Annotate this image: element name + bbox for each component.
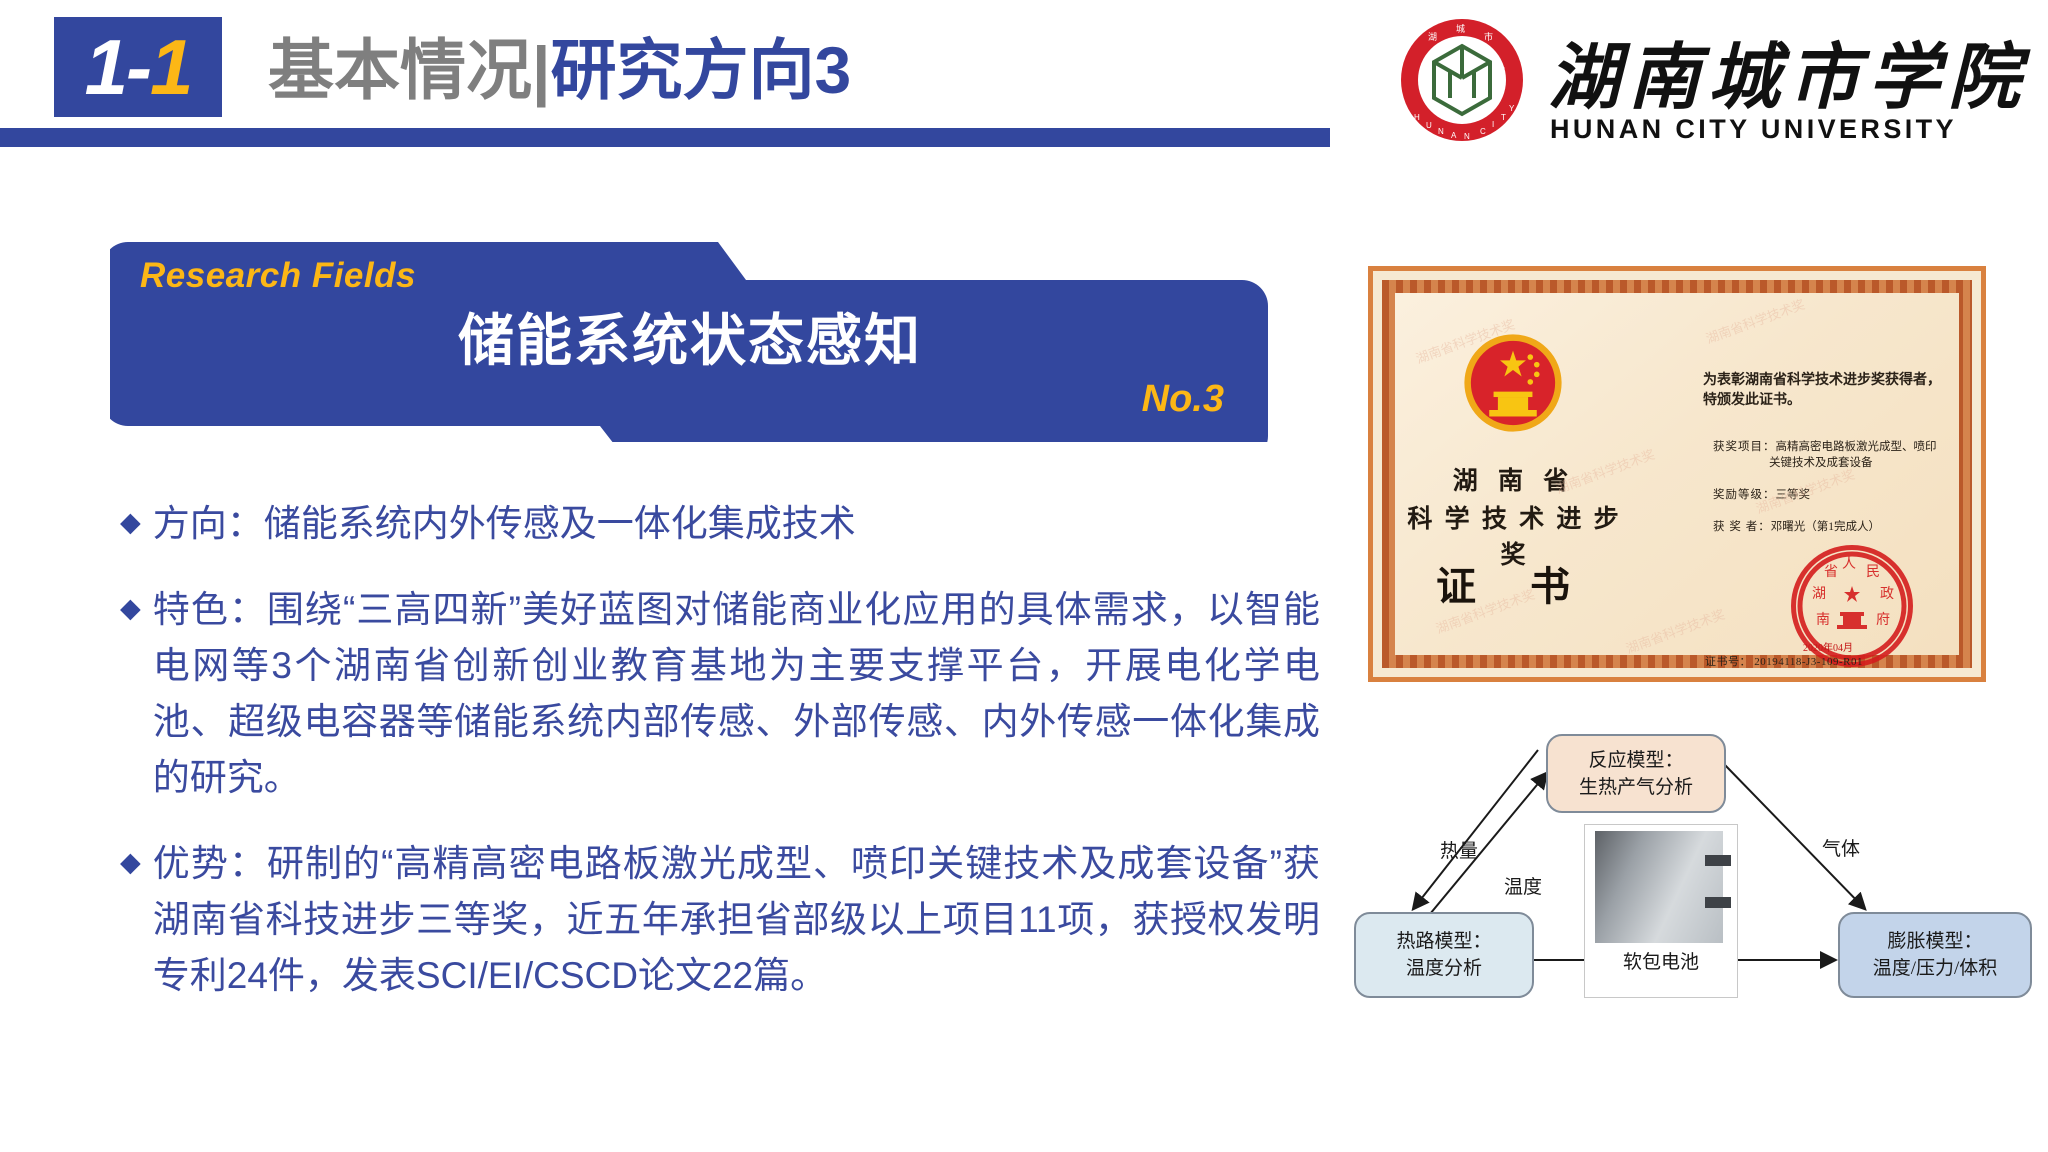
university-logo: 湖城市 学院 HUN AN CITY 湖南城市学院 HUNAN CITY UNI…: [1398, 10, 2038, 152]
svg-text:省: 省: [1824, 564, 1838, 580]
slide-root: 1 - 1 基本情况| 研究方向3 湖城市 学院 HUN AN CITY: [0, 0, 2048, 1152]
banner-number: No.3: [1142, 378, 1224, 421]
field-value-cont: 关键技术及成套设备: [1713, 455, 1963, 471]
diagram-box-swelling-model: 膨胀模型： 温度/压力/体积: [1838, 912, 2032, 998]
list-item: ◆ 优势：研制的“高精高密电路板激光成型、喷印关键技术及成套设备”获湖南省科技进…: [120, 836, 1320, 1004]
box-line2: 生热产气分析: [1579, 774, 1693, 801]
svg-text:H: H: [1414, 113, 1420, 122]
bullet-text: 方向：储能系统内外传感及一体化集成技术: [153, 496, 856, 552]
diamond-bullet-icon: ◆: [120, 582, 141, 635]
badge-part2: 1: [150, 28, 191, 106]
certificate-field-level: 奖励等级：三等奖: [1713, 487, 1963, 503]
header-divider: [0, 128, 1330, 147]
serial-label: 证书号：: [1705, 656, 1751, 668]
serial-value: 20194118-J3-109-R01: [1754, 656, 1863, 668]
certificate-title-line3: 证 书: [1409, 554, 1619, 612]
diamond-bullet-icon: ◆: [120, 836, 141, 889]
svg-text:T: T: [1501, 113, 1506, 122]
svg-text:学: 学: [1420, 65, 1429, 76]
svg-text:民: 民: [1866, 565, 1880, 580]
pouch-cell-caption: 软包电池: [1585, 947, 1737, 974]
svg-text:湖: 湖: [1812, 586, 1826, 602]
svg-text:市: 市: [1484, 31, 1493, 42]
box-line1: 热路模型：: [1396, 928, 1491, 955]
bullet-list: ◆ 方向：储能系统内外传感及一体化集成技术 ◆ 特色：围绕“三高四新”美好蓝图对…: [120, 496, 1320, 1034]
svg-text:A: A: [1451, 131, 1457, 140]
diamond-bullet-icon: ◆: [120, 496, 141, 549]
page-title-secondary: 研究方向3: [550, 37, 851, 103]
national-emblem-icon: [1459, 329, 1567, 437]
pouch-cell-photo: 软包电池: [1584, 824, 1738, 998]
stamp-date: 2020年04月: [1803, 639, 1853, 654]
pouch-cell-image: [1595, 831, 1723, 943]
svg-text:湖: 湖: [1428, 32, 1437, 42]
cell-tab-negative: [1705, 897, 1731, 908]
svg-text:院: 院: [1496, 65, 1505, 76]
badge-part1: 1: [85, 28, 126, 106]
field-value: 高精高密电路板激光成型、喷印: [1776, 441, 1937, 453]
cell-tab-positive: [1705, 855, 1731, 866]
banner-title: 储能系统状态感知: [110, 296, 1270, 377]
svg-text:U: U: [1426, 121, 1432, 130]
svg-text:人: 人: [1842, 556, 1856, 572]
box-line1: 反应模型：: [1588, 747, 1683, 774]
box-line1: 膨胀模型：: [1887, 928, 1982, 955]
svg-text:政: 政: [1880, 586, 1894, 602]
bullet-text: 优势：研制的“高精高密电路板激光成型、喷印关键技术及成套设备”获湖南省科技进步三…: [153, 836, 1320, 1004]
edge-label-gas: 气体: [1822, 834, 1860, 861]
box-line2: 温度/压力/体积: [1873, 955, 1998, 982]
svg-text:城: 城: [1456, 24, 1465, 34]
list-item: ◆ 特色：围绕“三高四新”美好蓝图对储能商业化应用的具体需求，以智能电网等3个湖…: [120, 582, 1320, 806]
certificate-title-line1: 湖 南 省: [1409, 461, 1619, 497]
svg-text:N: N: [1438, 127, 1444, 136]
svg-text:C: C: [1480, 127, 1486, 136]
svg-text:N: N: [1464, 132, 1470, 141]
svg-text:府: 府: [1876, 612, 1890, 628]
university-name-en: HUNAN CITY UNIVERSITY: [1550, 114, 1957, 145]
field-label: 奖励等级：: [1713, 489, 1776, 501]
svg-text:南: 南: [1816, 612, 1830, 628]
certificate-field-recipient: 获 奖 者：邓曙光（第1完成人）: [1713, 519, 1963, 535]
university-seal-icon: 湖城市 学院 HUN AN CITY: [1398, 16, 1526, 144]
section-number-badge: 1 - 1: [54, 17, 222, 117]
certificate-fields: 获奖项目：高精高密电路板激光成型、喷印 关键技术及成套设备 奖励等级：三等奖 获…: [1713, 439, 1963, 551]
research-fields-banner: Research Fields 储能系统状态感知 No.3: [110, 238, 1270, 442]
university-name-cn: 湖南城市学院: [1548, 18, 2028, 123]
svg-text:Y: Y: [1509, 104, 1515, 113]
diagram-box-reaction-model: 反应模型： 生热产气分析: [1546, 734, 1726, 813]
certificate-heading: 为表彰湖南省科学技术进步奖获得者，特颁发此证书。: [1703, 371, 1953, 411]
certificate-field-project: 获奖项目：高精高密电路板激光成型、喷印 关键技术及成套设备: [1713, 439, 1963, 471]
certificate-serial: 证书号： 20194118-J3-109-R01: [1705, 653, 1863, 669]
field-label: 获 奖 者：: [1713, 521, 1771, 533]
list-item: ◆ 方向：储能系统内外传感及一体化集成技术: [120, 496, 1320, 552]
badge-dash: -: [126, 28, 150, 106]
field-value: 三等奖: [1776, 489, 1811, 501]
award-certificate-image: 湖 南 省 科 学 技 术 进 步 奖 证 书 为表彰湖南省科学技术进步奖获得者…: [1368, 266, 1986, 682]
svg-text:I: I: [1492, 120, 1494, 129]
battery-model-diagram: 反应模型： 生热产气分析 热路模型： 温度分析 膨胀模型： 温度/压力/体积 热…: [1352, 712, 2032, 1052]
page-title-primary: 基本情况|: [268, 37, 550, 103]
banner-eyebrow: Research Fields: [140, 256, 416, 296]
page-title: 基本情况| 研究方向3: [268, 24, 851, 116]
field-label: 获奖项目：: [1713, 441, 1776, 453]
diagram-box-thermal-model: 热路模型： 温度分析: [1354, 912, 1534, 998]
edge-label-temperature: 温度: [1504, 872, 1542, 899]
edge-label-heat: 热量: [1440, 836, 1478, 863]
field-value: 邓曙光（第1完成人）: [1771, 521, 1880, 533]
box-line2: 温度分析: [1406, 955, 1482, 982]
bullet-text: 特色：围绕“三高四新”美好蓝图对储能商业化应用的具体需求，以智能电网等3个湖南省…: [153, 582, 1320, 806]
